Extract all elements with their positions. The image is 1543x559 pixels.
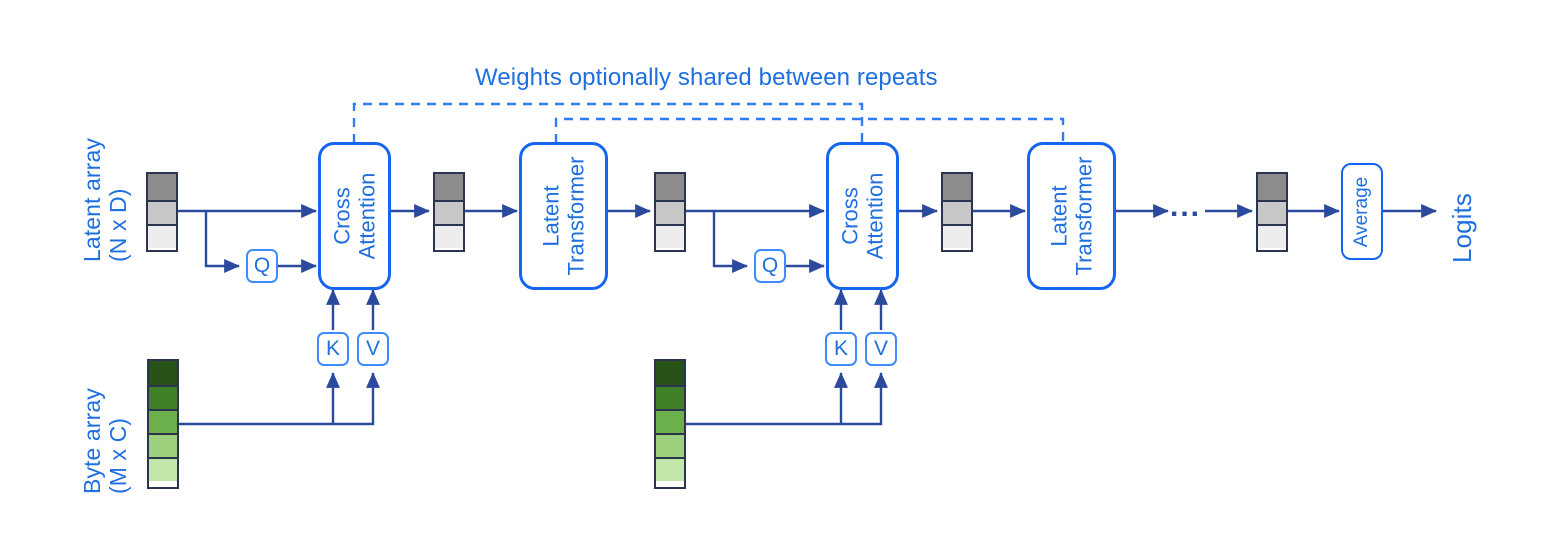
array-cell xyxy=(435,224,463,248)
array-cell xyxy=(943,224,971,248)
latent-transformer-block-1[interactable]: Latent Transformer xyxy=(519,142,608,290)
byte-array-stage1 xyxy=(147,359,179,489)
cross-attention-block-2[interactable]: Cross Attention xyxy=(826,142,899,290)
array-cell xyxy=(435,200,463,224)
array-cell xyxy=(148,174,176,200)
shared-weights-note: Weights optionally shared between repeat… xyxy=(475,64,938,92)
cross-attention-label-2: Cross Attention xyxy=(837,173,888,260)
key-label-2: K xyxy=(834,337,848,361)
array-cell xyxy=(656,200,684,224)
byte-array-stage2 xyxy=(654,359,686,489)
latent-array-stage1-transformer-out xyxy=(654,172,686,252)
array-cell xyxy=(148,224,176,248)
array-cell xyxy=(656,385,684,409)
key-box-1[interactable]: K xyxy=(317,332,349,366)
array-cell xyxy=(1258,224,1286,248)
array-cell xyxy=(943,200,971,224)
latent-array-final xyxy=(1256,172,1288,252)
array-cell xyxy=(148,200,176,224)
array-cell xyxy=(149,457,177,481)
array-cell xyxy=(435,174,463,200)
array-cell xyxy=(149,385,177,409)
array-cell xyxy=(656,224,684,248)
query-box-2[interactable]: Q xyxy=(754,249,786,283)
query-label-1: Q xyxy=(254,254,270,278)
query-box-1[interactable]: Q xyxy=(246,249,278,283)
value-label-1: V xyxy=(366,337,380,361)
average-label: Average xyxy=(1351,176,1373,246)
cross-attention-label-1: Cross Attention xyxy=(329,173,380,260)
key-box-2[interactable]: K xyxy=(825,332,857,366)
latent-array-label: Latent array (N x D) xyxy=(80,138,132,262)
value-label-2: V xyxy=(874,337,888,361)
average-block[interactable]: Average xyxy=(1341,163,1383,260)
byte-array-label: Byte array (M x C) xyxy=(80,388,132,494)
array-cell xyxy=(656,433,684,457)
array-cell xyxy=(1258,174,1286,200)
perceiver-architecture-diagram: Weights optionally shared between repeat… xyxy=(0,0,1543,559)
array-cell xyxy=(943,174,971,200)
array-cell xyxy=(656,409,684,433)
latent-transformer-block-2[interactable]: Latent Transformer xyxy=(1027,142,1116,290)
array-cell xyxy=(1258,200,1286,224)
array-cell xyxy=(149,361,177,385)
key-label-1: K xyxy=(326,337,340,361)
array-cell xyxy=(149,409,177,433)
array-cell xyxy=(656,361,684,385)
array-cell xyxy=(656,457,684,481)
cross-attention-block-1[interactable]: Cross Attention xyxy=(318,142,391,290)
query-label-2: Q xyxy=(762,254,778,278)
value-box-1[interactable]: V xyxy=(357,332,389,366)
array-cell xyxy=(656,174,684,200)
value-box-2[interactable]: V xyxy=(865,332,897,366)
logits-label: Logits xyxy=(1448,193,1477,263)
latent-array-stage1-attn-out xyxy=(433,172,465,252)
array-cell xyxy=(149,433,177,457)
latent-transformer-label-1: Latent Transformer xyxy=(538,157,589,276)
latent-transformer-label-2: Latent Transformer xyxy=(1046,157,1097,276)
repeat-ellipsis: ... xyxy=(1170,190,1201,224)
latent-array-input xyxy=(146,172,178,252)
latent-array-stage2-attn-out xyxy=(941,172,973,252)
